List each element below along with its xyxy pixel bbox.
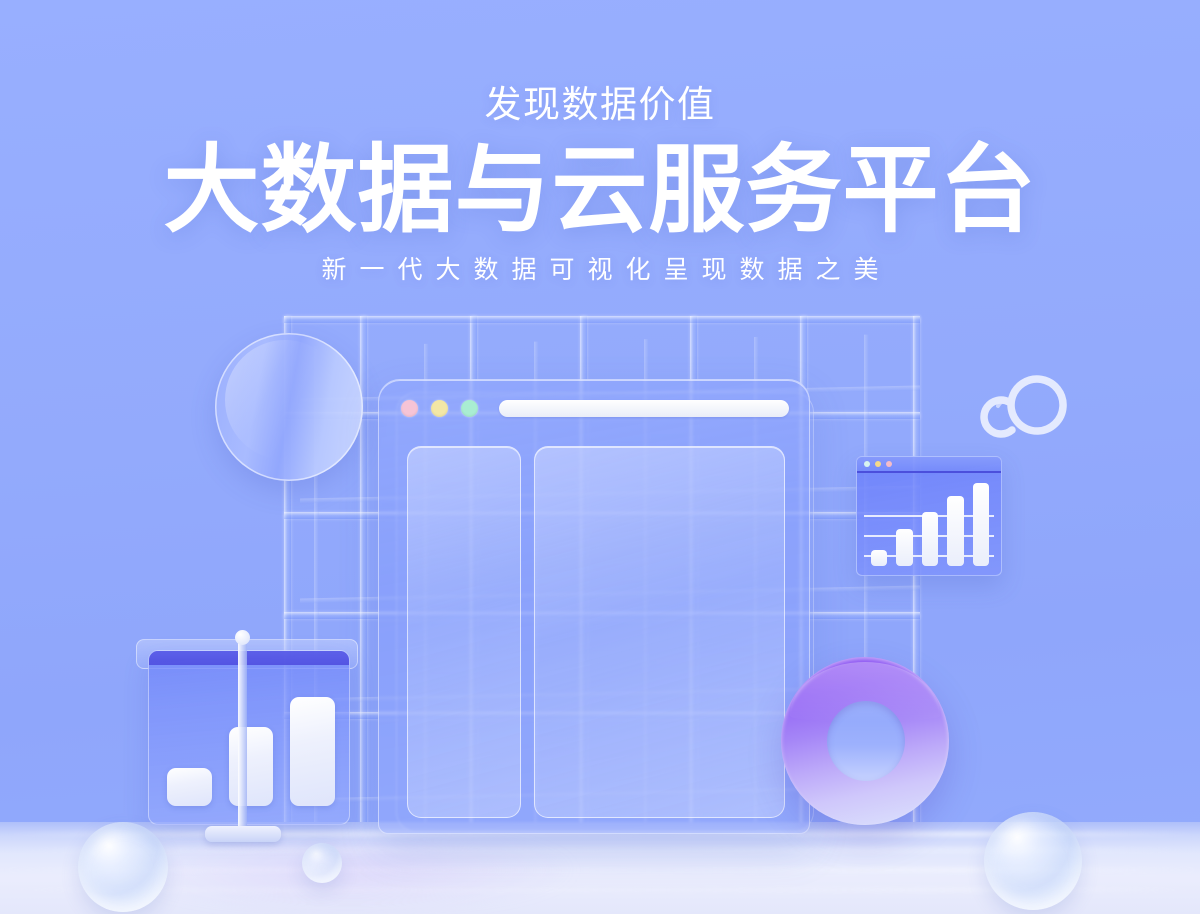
hero-banner: 发现数据价值 大数据与云服务平台 新一代大数据可视化呈现数据之美 — [0, 0, 1200, 914]
maximize-dot-icon[interactable] — [461, 400, 478, 417]
browser-titlebar — [379, 380, 809, 436]
bar-chart-bar — [167, 768, 212, 806]
page-title: 大数据与云服务平台 — [0, 141, 1200, 242]
cloud-icon — [976, 368, 1068, 449]
glass-sphere-right — [984, 812, 1082, 910]
bar-chart-panel[interactable] — [148, 650, 350, 825]
mini-chart-bars — [871, 479, 989, 566]
mini-chart-bar — [922, 512, 938, 566]
hero-subtitle: 新一代大数据可视化呈现数据之美 — [0, 255, 1200, 285]
mini-chart-bar — [871, 550, 887, 566]
hero-eyebrow: 发现数据价值 — [0, 84, 1200, 127]
mini-chart-bar — [973, 483, 989, 566]
glass-sphere-small — [302, 843, 342, 883]
mini-chart-bar — [896, 529, 912, 566]
glass-disc-decoration — [215, 333, 363, 481]
minimize-dot-icon[interactable] — [431, 400, 448, 417]
bar-chart-bars — [167, 679, 335, 806]
lamp-knob — [235, 630, 250, 645]
bar-chart-panel-header — [149, 651, 349, 665]
glass-sphere-left — [78, 822, 168, 912]
mini-dot-3-icon[interactable] — [886, 461, 892, 467]
lamp-pole — [238, 637, 247, 837]
bar-chart-bar — [229, 727, 274, 806]
mini-dot-1-icon[interactable] — [864, 461, 870, 467]
lamp-base — [205, 826, 281, 842]
donut-chart-decoration — [781, 657, 949, 825]
hero-text-block: 发现数据价值 大数据与云服务平台 新一代大数据可视化呈现数据之美 — [0, 84, 1200, 285]
mini-dot-2-icon[interactable] — [875, 461, 881, 467]
mini-chart-plot — [857, 473, 1001, 575]
address-bar-input[interactable] — [499, 400, 789, 417]
content-panel[interactable] — [534, 446, 785, 818]
mini-chart-titlebar — [857, 457, 1001, 473]
mini-chart-window[interactable] — [856, 456, 1002, 576]
mini-chart-bar — [947, 496, 963, 566]
close-dot-icon[interactable] — [401, 400, 418, 417]
browser-window[interactable] — [378, 379, 810, 834]
sidebar-panel[interactable] — [407, 446, 521, 818]
bar-chart-bar — [290, 697, 335, 806]
